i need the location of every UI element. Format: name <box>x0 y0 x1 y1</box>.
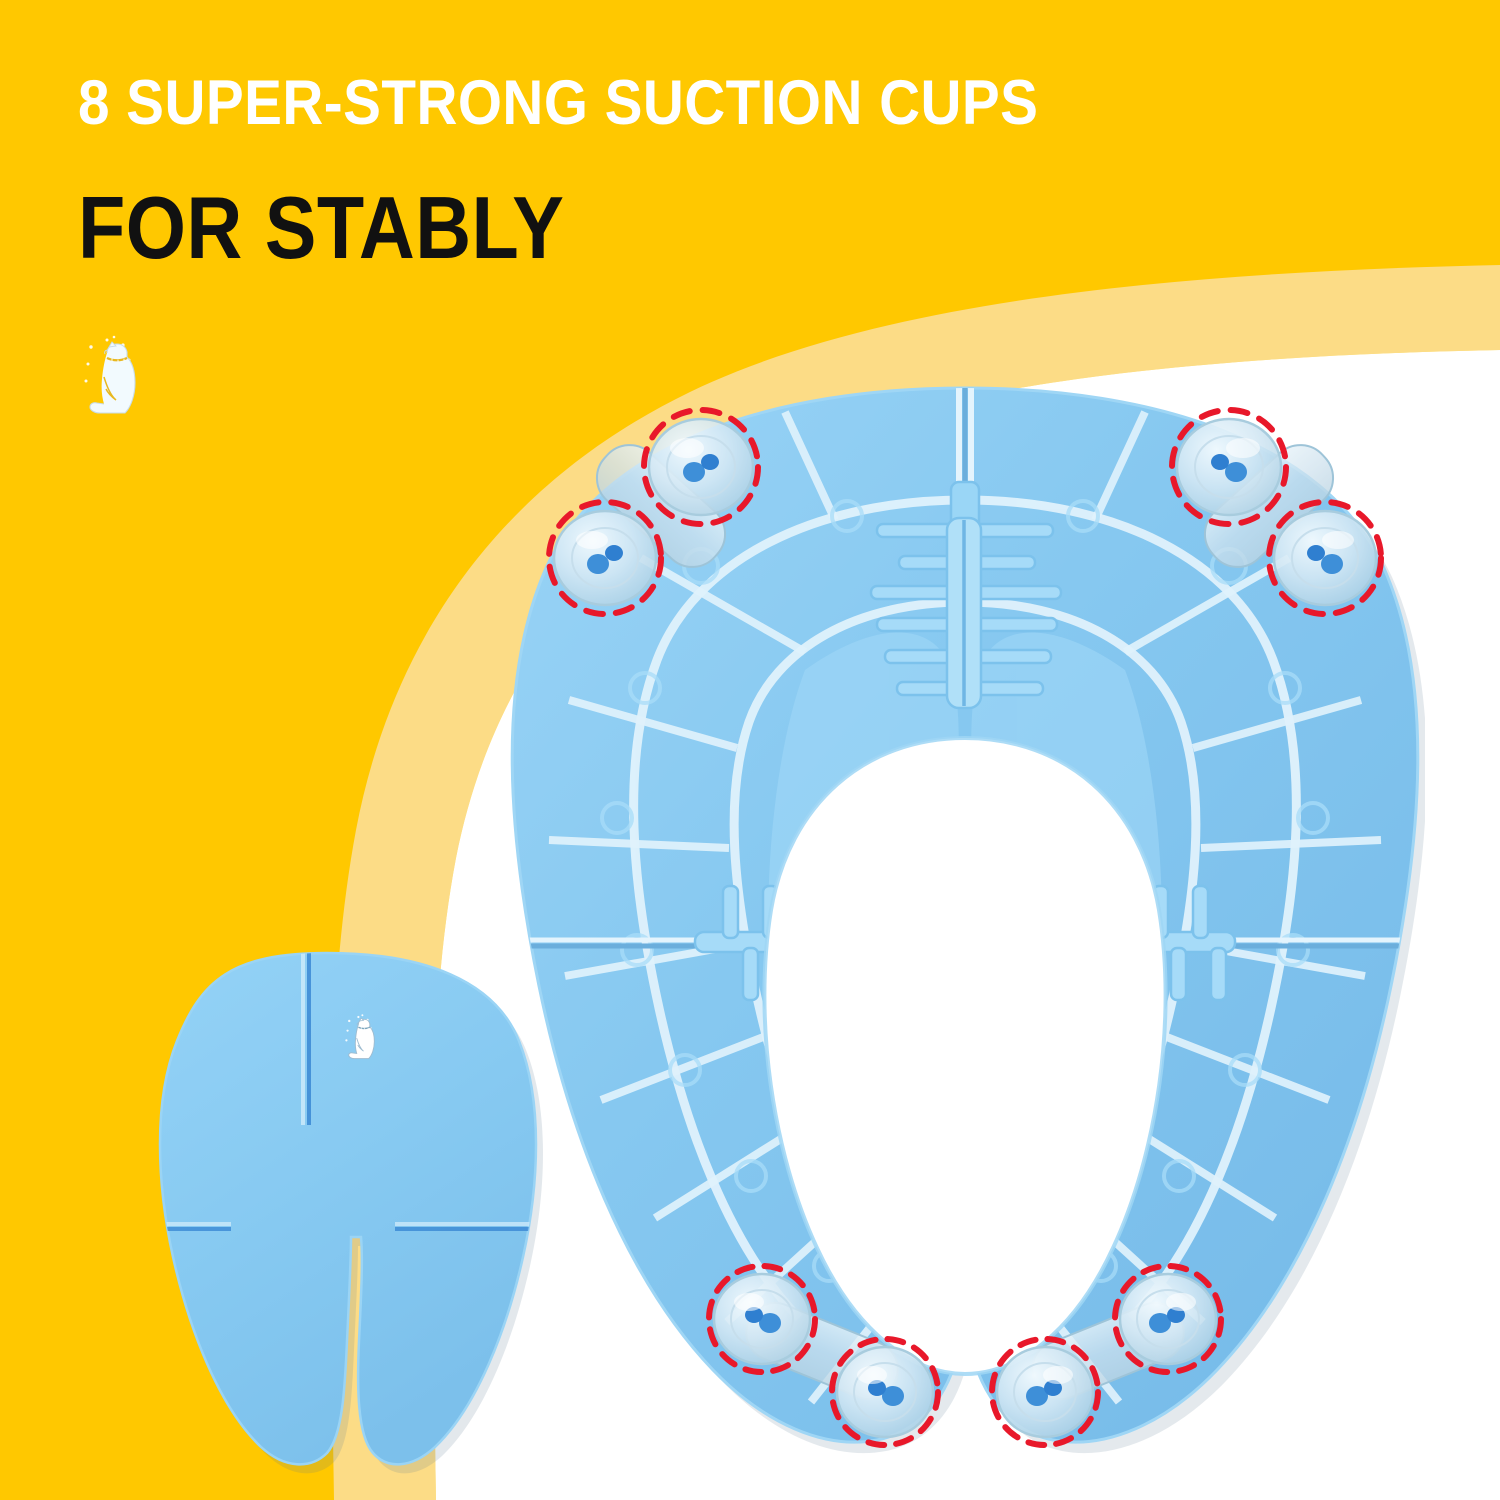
folding-toilet-seat-topside <box>95 945 555 1475</box>
polar-bear-logo <box>80 333 160 438</box>
suction-cup <box>837 1347 933 1437</box>
suction-cup <box>649 419 753 515</box>
headline-block: 8 SUPER-STRONG SUCTION CUPS FOR STABLY <box>78 72 1328 272</box>
headline-secondary: FOR STABLY <box>78 184 1178 272</box>
product-feature-banner: 8 SUPER-STRONG SUCTION CUPS FOR STABLY <box>0 0 1500 1500</box>
suction-cup-highlights <box>505 370 1425 1470</box>
top-left-pair <box>549 410 758 614</box>
bottom-left-pair <box>709 1266 938 1445</box>
suction-cup <box>1274 511 1376 605</box>
suction-cup <box>554 511 656 605</box>
suction-cup <box>1177 419 1281 515</box>
top-right-pair <box>1172 410 1381 614</box>
suction-cup <box>1120 1274 1216 1364</box>
headline-primary: 8 SUPER-STRONG SUCTION CUPS <box>78 72 1203 135</box>
bottom-right-pair <box>992 1266 1221 1445</box>
polar-bear-body <box>90 342 135 413</box>
suction-cup <box>997 1347 1093 1437</box>
suction-cup <box>714 1274 810 1364</box>
